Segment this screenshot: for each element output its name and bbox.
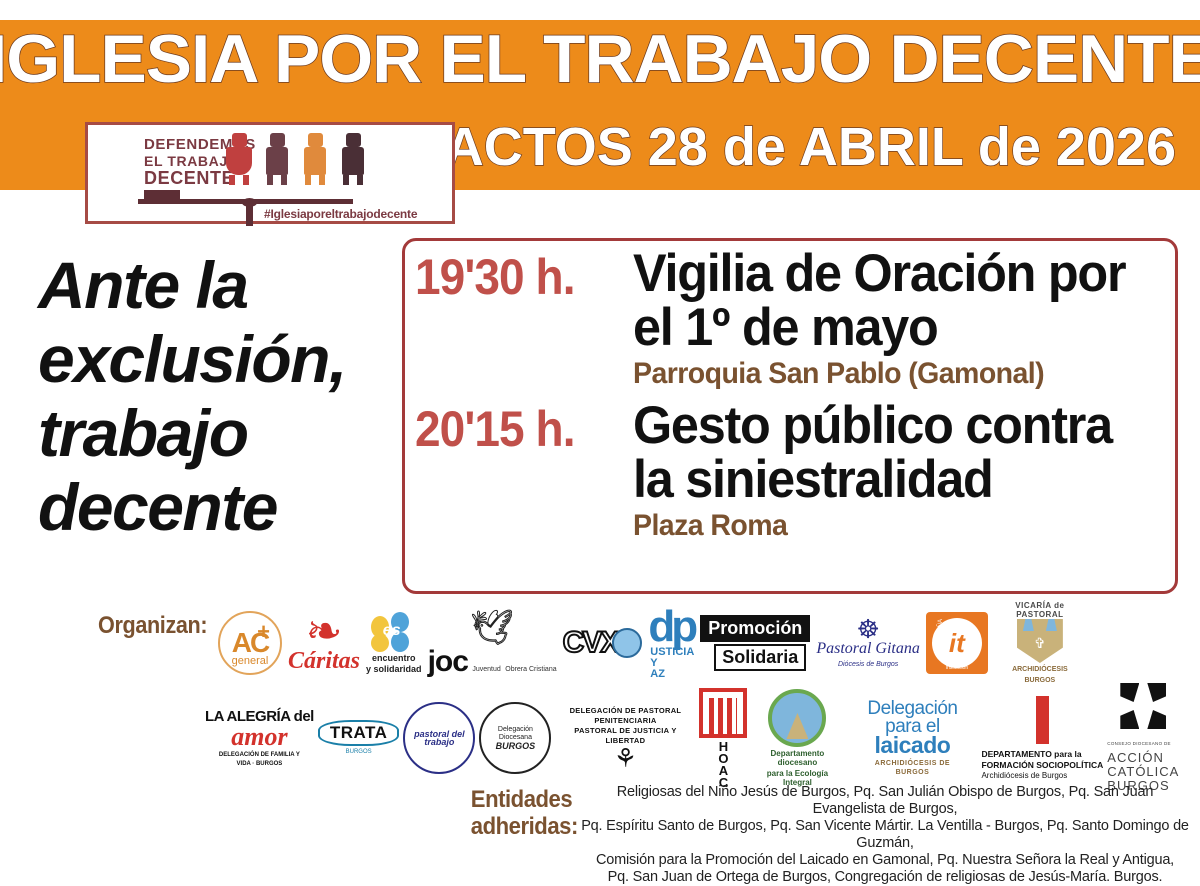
- adheridas-line-3: Comisión para la Promoción del Laicado e…: [580, 852, 1190, 869]
- schedule-event-1: 19'30 h. Vigilia de Oración por el 1º de…: [405, 247, 1175, 391]
- adheridas-line-2: Pq. Espíritu Santo de Burgos, Pq. San Vi…: [580, 818, 1190, 852]
- accion-tiny-caption: CONSEJO DIOCESANO DE: [1107, 741, 1171, 746]
- figure-person-purple-icon: [264, 133, 290, 185]
- ecology-circle-icon: [768, 689, 826, 747]
- logo-vicaria-pastoral: VICARÍA de PASTORAL ✞ ARCHIDIÓCESIS BURG…: [994, 601, 1086, 685]
- it-caption: Institución: [926, 665, 988, 671]
- laicado-caption: ARCHIDIÓCESIS DE BURGOS: [866, 759, 958, 777]
- logo-hoac: HOAC: [699, 688, 747, 789]
- joc-name: joc: [428, 645, 468, 678]
- event-2-time: 20'15 h.: [415, 403, 575, 455]
- logo-joc: 🕊 joc Juventud Obrera Cristiana: [428, 611, 557, 676]
- red-bar-icon: [1036, 696, 1049, 744]
- promocion-line-2: Solidaria: [714, 644, 806, 671]
- page-title: IGLESIA POR EL TRABAJO DECENTE: [0, 24, 1200, 94]
- laicado-line-1: Delegación: [867, 700, 957, 718]
- organizer-logos-row-2: LA ALEGRÍA del amor DELEGACIÓN DE FAMILI…: [205, 690, 1195, 786]
- vicaria-caption-1: ARCHIDIÓCESIS: [1012, 665, 1068, 674]
- gitana-wheel-icon: ☸: [856, 618, 879, 640]
- joc-caption-1: Juventud: [472, 666, 500, 673]
- it-letters: it: [949, 628, 965, 659]
- formacion-line-3: Archidiócesis de Burgos: [981, 771, 1067, 780]
- lamp-post-icon: [246, 204, 253, 226]
- caritas-hearts-cross-icon: ❧: [306, 614, 343, 650]
- organizer-logos-row-1: AC + general ❧ Cáritas es encuentro y so…: [218, 600, 1193, 686]
- logo-caritas: ❧ Cáritas: [288, 614, 360, 672]
- vicaria-caption-2: BURGOS: [1025, 676, 1056, 685]
- caritas-name: Cáritas: [288, 650, 360, 672]
- adheridas-line-4: Pq. San Juan de Ortega de Burgos, Congre…: [580, 869, 1190, 886]
- encuentro-caption-2: y solidaridad: [366, 665, 422, 674]
- it-espana-label: ESPAÑA: [938, 619, 944, 643]
- logo-cvx: CVX: [563, 626, 643, 660]
- ecologia-caption-1: Departamento diocesano: [751, 749, 843, 767]
- logo-pastoral-gitana: ☸ Pastoral Gitana Diócesis de Burgos: [816, 618, 920, 669]
- slogan-text: Ante la exclusión, trabajo decente: [38, 248, 398, 544]
- poster-root: IGLESIA POR EL TRABAJO DECENTE ACTOS 28 …: [0, 0, 1200, 853]
- encuentro-dots-icon: es: [371, 612, 417, 652]
- logo-pastoral-penitenciaria: DELEGACIÓN DE PASTORAL PENITENCIARIA PAS…: [555, 706, 695, 770]
- adheridas-list: Religiosas del Niño Jesús de Burgos, Pq.…: [580, 784, 1190, 886]
- ac-general-sub: general: [220, 655, 280, 667]
- logo-delegacion-laicado: Delegación para el laicado ARCHIDIÓCESIS…: [847, 700, 977, 777]
- logo-promocion-solidaria: Promoción Solidaria: [700, 615, 810, 671]
- logo-justicia-y-paz: dp USTICIA Y AZ: [648, 607, 694, 680]
- hoac-letters: HOAC: [718, 741, 728, 789]
- dove-icon: 🕊: [471, 611, 514, 645]
- cross-icon: [1120, 683, 1166, 729]
- organizers-label: Organizan:: [98, 612, 207, 640]
- gitana-caption: Diócesis de Burgos: [838, 660, 898, 669]
- campaign-hashtag: #Iglesiaporeltrabajodecente: [264, 207, 417, 221]
- figure-woman-red-icon: [226, 133, 252, 185]
- logo-la-alegria-del-amor: LA ALEGRÍA del amor DELEGACIÓN DE FAMILI…: [205, 708, 314, 769]
- podium-step-icon: [144, 190, 180, 199]
- adheridas-line-1: Religiosas del Niño Jesús de Burgos, Pq.…: [580, 784, 1190, 818]
- pastoral-trabajo-seal-icon: pastoral del trabajo: [403, 702, 475, 774]
- globe-icon: [612, 628, 642, 658]
- campaign-logo: DEFENDEMOS EL TRABAJO DECENTE #Iglesiapo…: [85, 122, 455, 224]
- logo-accion-catolica: CONSEJO DIOCESANO DE ACCIÓN CATÓLICA BUR…: [1107, 683, 1179, 793]
- logo-pastoral-migraciones: Delegación Diocesana BURGOS: [479, 702, 551, 774]
- logo-institucion-teresiana: ESPAÑA it Institución: [926, 612, 988, 674]
- pastoral-trabajo-name: pastoral del trabajo: [409, 730, 469, 746]
- logo-ac-general: AC + general: [218, 611, 282, 675]
- encuentro-monogram: es: [383, 622, 401, 640]
- cvx-letters: CVX: [563, 626, 619, 660]
- gitana-name: Pastoral Gitana: [816, 640, 920, 658]
- logo-ecologia-integral: Departamento diocesano para la Ecología …: [751, 689, 843, 787]
- accion-line-2: CATÓLICA: [1107, 764, 1179, 779]
- accion-line-1: ACCIÓN: [1107, 750, 1164, 765]
- event-2-place: Plaza Roma: [633, 509, 1142, 543]
- adheridas-label-line-1: Entidades: [471, 786, 572, 813]
- logo-formacion-sociopolitica: DEPARTAMENTO para la FORMACIÓN SOCIOPOLÍ…: [981, 696, 1103, 781]
- vicaria-arc-text: VICARÍA de PASTORAL: [994, 601, 1086, 619]
- alegria-amor: amor: [231, 725, 287, 749]
- event-1-title: Vigilia de Oración por el 1º de mayo: [633, 247, 1142, 355]
- schedule-box: 19'30 h. Vigilia de Oración por el 1º de…: [402, 238, 1178, 594]
- migraciones-caption-2: BURGOS: [496, 742, 536, 750]
- trata-caption-1: BURGOS: [346, 748, 372, 757]
- hoac-emblem-icon: [699, 688, 747, 738]
- logo-trata-burgos: TRATA BURGOS: [318, 720, 400, 757]
- joc-caption-2: Obrera Cristiana: [505, 666, 556, 673]
- adheridas-label: Entidades adheridas:: [471, 786, 572, 840]
- logo-pastoral-del-trabajo: pastoral del trabajo: [403, 702, 475, 774]
- trata-name: TRATA: [318, 720, 400, 746]
- shield-icon: ✞: [1017, 619, 1063, 663]
- formacion-line-1: DEPARTAMENTO para la: [981, 749, 1081, 759]
- alegria-caption: DELEGACIÓN DE FAMILIA Y VIDA · BURGOS: [213, 751, 305, 769]
- plus-icon: +: [257, 621, 270, 643]
- promocion-line-1: Promoción: [700, 615, 810, 642]
- encuentro-caption-1: encuentro: [372, 654, 416, 663]
- dp-letters: dp: [648, 607, 694, 647]
- migraciones-seal-icon: Delegación Diocesana BURGOS: [479, 702, 551, 774]
- formacion-line-2: FORMACIÓN SOCIOPOLÍTICA: [981, 760, 1103, 770]
- jp-caption-3: AZ: [650, 668, 665, 680]
- adheridas-label-line-2: adheridas:: [471, 813, 572, 840]
- alegria-del: del: [294, 708, 314, 725]
- event-2-title: Gesto público contra la siniestralidad: [633, 399, 1142, 507]
- broken-chains-icon: ⚘: [614, 746, 637, 770]
- event-1-place: Parroquia San Pablo (Gamonal): [633, 357, 1142, 391]
- penitenciaria-line-1: DELEGACIÓN DE PASTORAL PENITENCIARIA: [555, 706, 695, 726]
- figure-person-orange-icon: [302, 133, 328, 185]
- figure-person-dark-icon: [340, 133, 366, 185]
- logo-encuentro-solidaridad: es encuentro y solidaridad: [366, 612, 422, 674]
- schedule-event-2: 20'15 h. Gesto público contra la siniest…: [405, 399, 1175, 543]
- event-1-time: 19'30 h.: [415, 251, 575, 303]
- laicado-line-3: laicado: [875, 732, 951, 758]
- migraciones-caption-1: Delegación Diocesana: [485, 726, 545, 742]
